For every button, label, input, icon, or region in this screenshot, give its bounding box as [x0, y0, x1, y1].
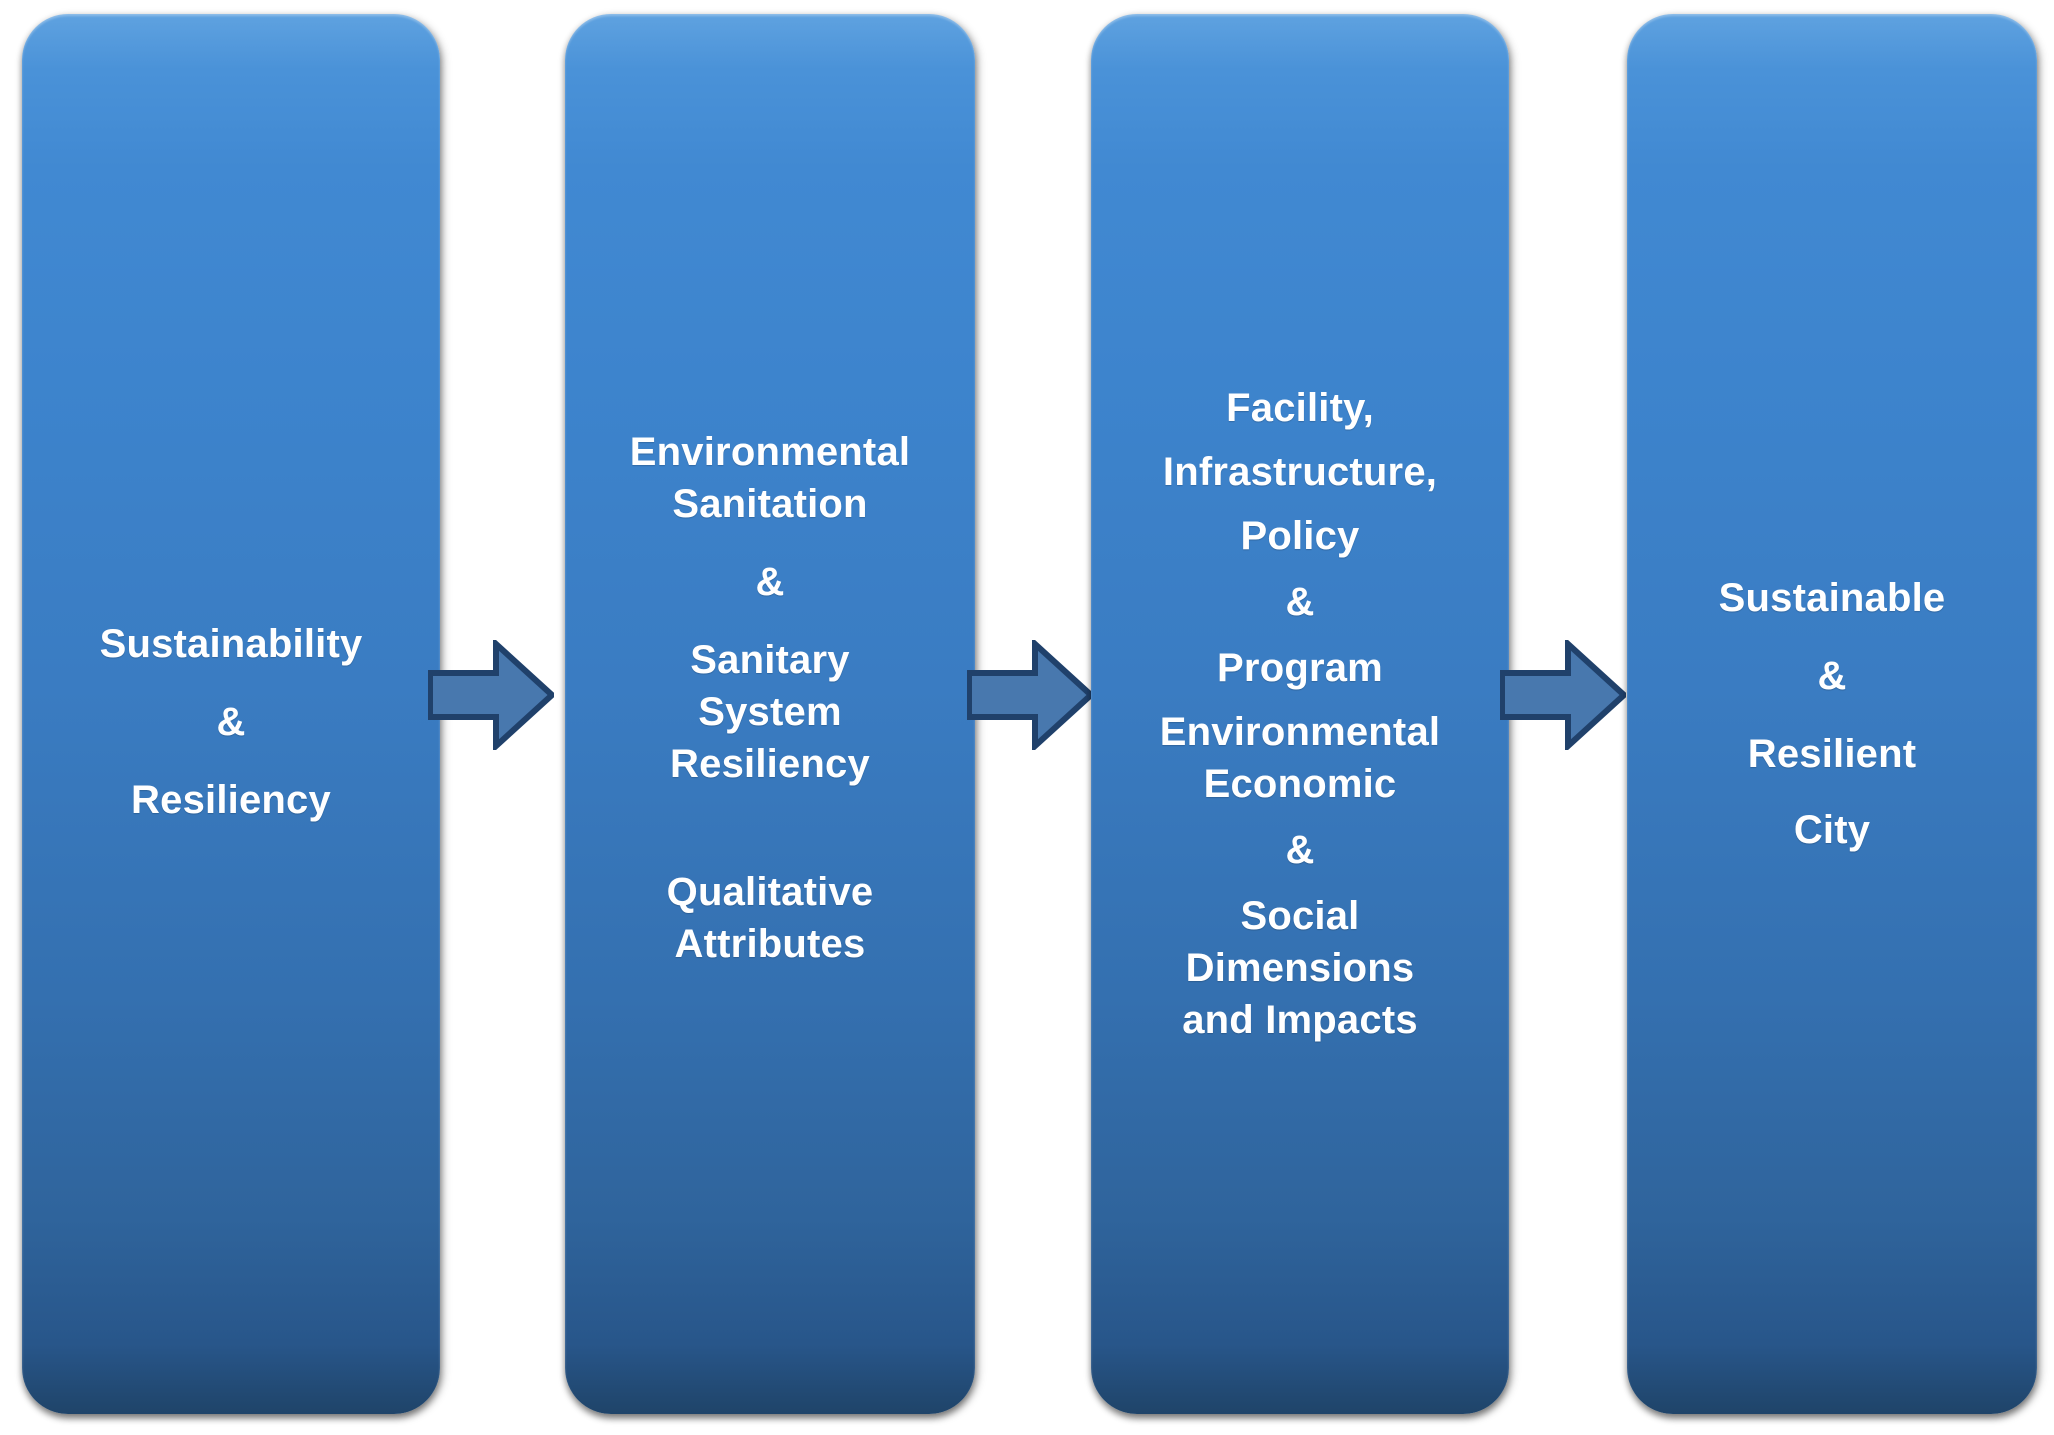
stage-1-line-1: Sustainability [36, 618, 426, 670]
stage-2-line-2: Sanitation [579, 478, 961, 530]
stage-4-text-block: Sustainable & Resilient City [1627, 572, 2037, 856]
stage-3-line-9: Social [1105, 890, 1495, 942]
arrow-stage2-to-stage3 [967, 640, 1093, 750]
spacer [1105, 562, 1495, 574]
stage-3-text-block: Facility, Infrastructure, Policy & Progr… [1091, 382, 1509, 1046]
stage-2-text-block: Environmental Sanitation & Sanitary Syst… [565, 426, 975, 970]
spacer [1105, 878, 1495, 890]
spacer [1641, 704, 2023, 728]
stage-1-text-block: Sustainability & Resiliency [22, 618, 440, 826]
spacer [579, 790, 961, 828]
stage-3-line-5: Program [1105, 642, 1495, 694]
arrow-stage3-to-stage4 [1500, 640, 1626, 750]
stage-box-environmental-sanitation[interactable]: Environmental Sanitation & Sanitary Syst… [565, 14, 975, 1414]
stage-3-line-10: Dimensions [1105, 942, 1495, 994]
stage-4-line-1: Sustainable [1641, 572, 2023, 624]
stage-2-line-5: System [579, 686, 961, 738]
stage-2-line-8: Attributes [579, 918, 961, 970]
stage-box-sustainable-and-resilient-city[interactable]: Sustainable & Resilient City [1627, 14, 2037, 1414]
stage-3-line-1: Facility, [1105, 382, 1495, 434]
stage-3-line-3: Policy [1105, 510, 1495, 562]
spacer [1641, 780, 2023, 804]
stage-4-line-4: City [1641, 804, 2023, 856]
stage-2-line-3: & [579, 554, 961, 610]
spacer [1105, 810, 1495, 822]
spacer [1641, 624, 2023, 648]
stage-3-line-8: & [1105, 822, 1495, 878]
spacer [579, 828, 961, 866]
process-flow-diagram: Sustainability & Resiliency Environmenta… [0, 0, 2054, 1435]
stage-3-line-7: Economic [1105, 758, 1495, 810]
spacer [1105, 694, 1495, 706]
spacer [1105, 434, 1495, 446]
stage-box-sustainability-and-resiliency[interactable]: Sustainability & Resiliency [22, 14, 440, 1414]
spacer [579, 530, 961, 554]
stage-box-facility-infrastructure-policy-program[interactable]: Facility, Infrastructure, Policy & Progr… [1091, 14, 1509, 1414]
stage-2-line-1: Environmental [579, 426, 961, 478]
stage-4-line-3: Resilient [1641, 728, 2023, 780]
spacer [36, 750, 426, 774]
spacer [579, 610, 961, 634]
right-arrow-icon [428, 640, 554, 750]
stage-2-line-6: Resiliency [579, 738, 961, 790]
right-arrow-icon [967, 640, 1093, 750]
right-arrow-icon [1500, 640, 1626, 750]
stage-3-line-4: & [1105, 574, 1495, 630]
stage-2-line-7: Qualitative [579, 866, 961, 918]
spacer [1105, 630, 1495, 642]
stage-1-line-3: Resiliency [36, 774, 426, 826]
stage-3-line-2: Infrastructure, [1105, 446, 1495, 498]
spacer [1105, 498, 1495, 510]
stage-3-line-11: and Impacts [1105, 994, 1495, 1046]
stage-4-line-2: & [1641, 648, 2023, 704]
stage-2-line-4: Sanitary [579, 634, 961, 686]
stage-1-line-2: & [36, 694, 426, 750]
arrow-stage1-to-stage2 [428, 640, 554, 750]
stage-3-line-6: Environmental [1105, 706, 1495, 758]
spacer [36, 670, 426, 694]
